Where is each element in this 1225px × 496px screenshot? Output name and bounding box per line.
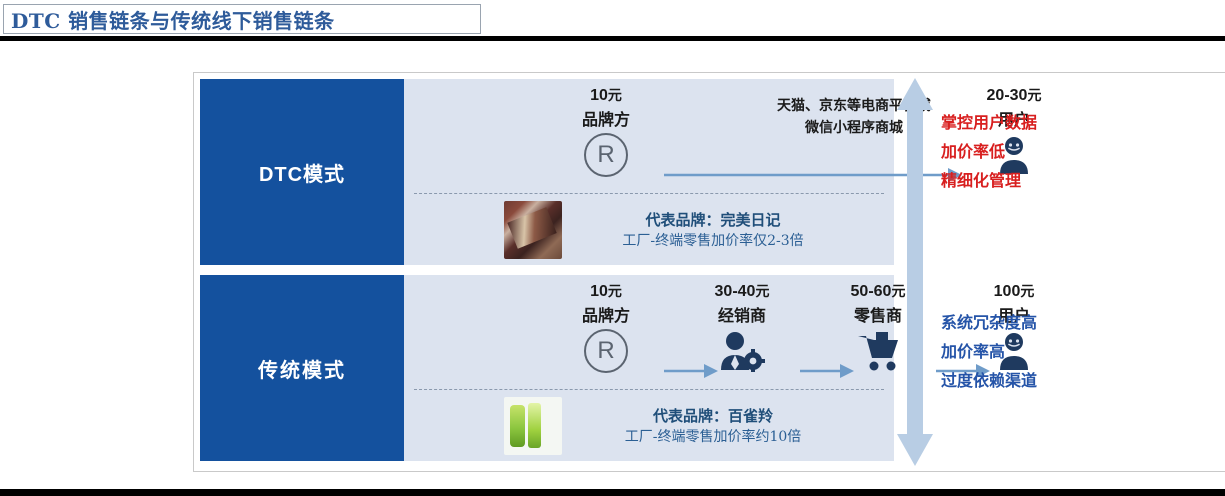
- makeup-palette-thumbnail: [504, 201, 562, 259]
- dtc-side-note-line-3: 精细化管理: [941, 166, 1131, 195]
- slide-title-box: DTC 销售链条与传统线下销售链条: [3, 4, 481, 34]
- dtc-row-label: DTC模式: [200, 79, 404, 265]
- traditional-side-note-line-1: 系统冗杂度高: [941, 308, 1131, 337]
- registered-trademark-icon: R: [551, 132, 661, 178]
- dtc-caption-text: 代表品牌：完美日记 工厂-终端零售加价率仅2-3倍: [562, 210, 894, 251]
- dtc-caption-line1: 代表品牌：完美日记: [562, 210, 864, 231]
- dtc-row-dashed-divider: [414, 193, 884, 194]
- dtc-brand-name: 品牌方: [551, 110, 661, 130]
- dtc-user-price: 20-30元: [959, 87, 1069, 105]
- trad-brand-name: 品牌方: [551, 306, 661, 326]
- traditional-caption-line2: 工厂-终端零售加价率约10倍: [562, 427, 864, 447]
- skincare-set-thumbnail: [504, 397, 562, 455]
- traditional-side-note-line-3: 过度依赖渠道: [941, 366, 1131, 395]
- title-underline-rule: [0, 36, 1225, 41]
- trad-user-price: 100元: [959, 283, 1069, 301]
- traditional-caption-text: 代表品牌：百雀羚 工厂-终端零售加价率约10倍: [562, 406, 894, 447]
- bottom-rule: [0, 489, 1225, 496]
- page-title: DTC 销售链条与传统线下销售链条: [4, 5, 335, 34]
- distributor-person-gear-icon: [687, 328, 797, 374]
- dtc-caption-band: 代表品牌：完美日记 工厂-终端零售加价率仅2-3倍: [404, 199, 894, 261]
- sales-chain-diagram: DTC模式 天猫、京东等电商平台或 微信小程序商城 10元 品牌方 R: [193, 72, 1225, 472]
- dtc-node-brand: 10元 品牌方 R: [551, 87, 661, 178]
- dtc-side-note-line-2: 加价率低: [941, 137, 1131, 166]
- traditional-row-label: 传统模式: [200, 275, 404, 461]
- dtc-brand-price: 10元: [551, 87, 661, 105]
- trad-distributor-name: 经销商: [687, 306, 797, 326]
- dtc-row: DTC模式 天猫、京东等电商平台或 微信小程序商城 10元 品牌方 R: [200, 79, 894, 265]
- dtc-caption-line2: 工厂-终端零售加价率仅2-3倍: [562, 231, 864, 251]
- dtc-side-note: 掌控用户数据 加价率低 精细化管理: [941, 108, 1131, 195]
- trad-node-brand: 10元 品牌方 R: [551, 283, 661, 374]
- vertical-double-arrow-icon: [893, 72, 937, 472]
- trad-brand-price: 10元: [551, 283, 661, 301]
- traditional-row-body: 10元 品牌方 R 30-40元 经销商: [404, 275, 894, 461]
- registered-trademark-icon: R: [551, 328, 661, 374]
- dtc-side-note-line-1: 掌控用户数据: [941, 108, 1131, 137]
- traditional-caption-band: 代表品牌：百雀羚 工厂-终端零售加价率约10倍: [404, 395, 894, 457]
- trad-distributor-price: 30-40元: [687, 283, 797, 301]
- traditional-caption-line1: 代表品牌：百雀羚: [562, 406, 864, 427]
- traditional-side-note-line-2: 加价率高: [941, 337, 1131, 366]
- trad-node-distributor: 30-40元 经销商: [687, 283, 797, 374]
- dtc-row-body: 天猫、京东等电商平台或 微信小程序商城 10元 品牌方 R: [404, 79, 894, 265]
- traditional-side-note: 系统冗杂度高 加价率高 过度依赖渠道: [941, 308, 1131, 395]
- traditional-row-dashed-divider: [414, 389, 884, 390]
- traditional-row: 传统模式 10元 品牌方 R 30-40元 经销商: [200, 275, 894, 461]
